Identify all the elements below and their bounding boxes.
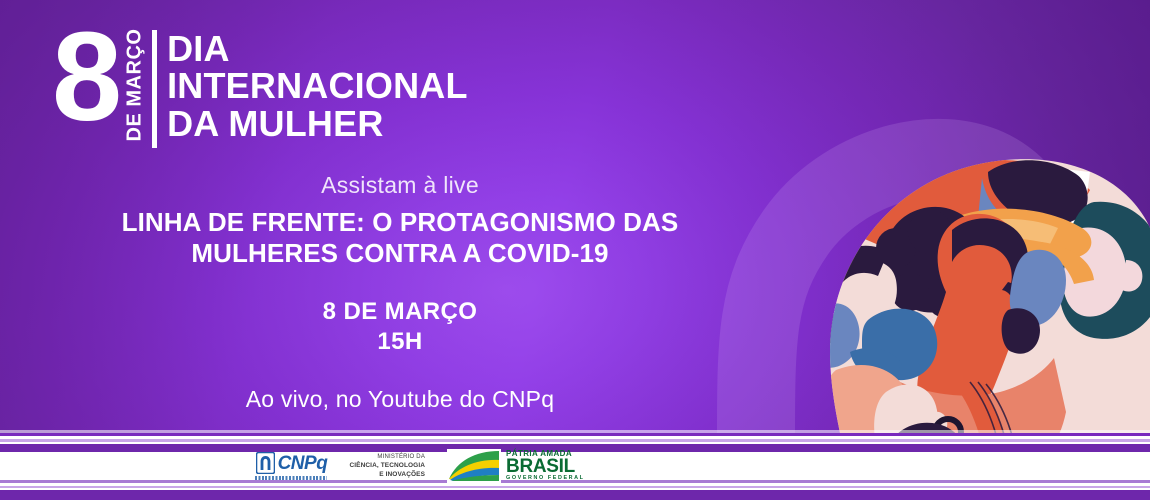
banner-headline: 8 DE MARÇO DIA INTERNACIONAL DA MULHER (52, 24, 468, 148)
event-channel: Ao vivo, no Youtube do CNPq (0, 386, 800, 413)
cnpq-subtitle-rule (255, 476, 327, 480)
footer-logos: CNPq MINISTÉRIO DA CIÊNCIA, TECNOLOGIA E… (0, 446, 840, 486)
brasil-line-3: GOVERNO FEDERAL (506, 476, 585, 481)
title-line-2: INTERNACIONAL (167, 67, 468, 104)
page-title: DIA INTERNACIONAL DA MULHER (167, 30, 468, 142)
live-title-line-2: MULHERES CONTRA A COVID-19 (0, 238, 800, 269)
ministry-line-3: E INOVAÇÕES (349, 470, 425, 479)
title-line-1: DIA (167, 30, 468, 67)
cnpq-wordmark: CNPq (278, 454, 328, 473)
ministry-logo[interactable]: MINISTÉRIO DA CIÊNCIA, TECNOLOGIA E INOV… (349, 453, 425, 480)
headline-divider (152, 30, 157, 148)
brasil-wordmark: PÁTRIA AMADA BRASIL GOVERNO FEDERAL (506, 450, 585, 481)
month-vertical-label: DE MARÇO (124, 29, 147, 142)
cnpq-logo[interactable]: CNPq (255, 452, 327, 480)
brasil-logo[interactable]: PÁTRIA AMADA BRASIL GOVERNO FEDERAL (447, 449, 585, 483)
title-line-3: DA MULHER (167, 105, 468, 142)
kicker-text: Assistam à live (0, 172, 800, 199)
live-title-line-1: LINHA DE FRENTE: O PROTAGONISMO DAS (0, 207, 800, 238)
brasil-flag-swoosh-icon (447, 449, 501, 483)
cnpq-monument-icon (256, 452, 275, 474)
month-vertical-wrap: DE MARÇO (120, 24, 150, 146)
brasil-line-2: BRASIL (506, 458, 585, 476)
ministry-line-1: MINISTÉRIO DA (349, 453, 425, 462)
event-date: 8 DE MARÇO (0, 298, 800, 326)
day-number: 8 (52, 24, 118, 130)
ministry-line-2: CIÊNCIA, TECNOLOGIA (349, 461, 425, 470)
womens-day-banner: 8 DE MARÇO DIA INTERNACIONAL DA MULHER A… (0, 0, 1150, 500)
live-title: LINHA DE FRENTE: O PROTAGONISMO DAS MULH… (0, 207, 800, 268)
event-copy: Assistam à live LINHA DE FRENTE: O PROTA… (0, 172, 800, 413)
event-hour: 15H (0, 328, 800, 356)
